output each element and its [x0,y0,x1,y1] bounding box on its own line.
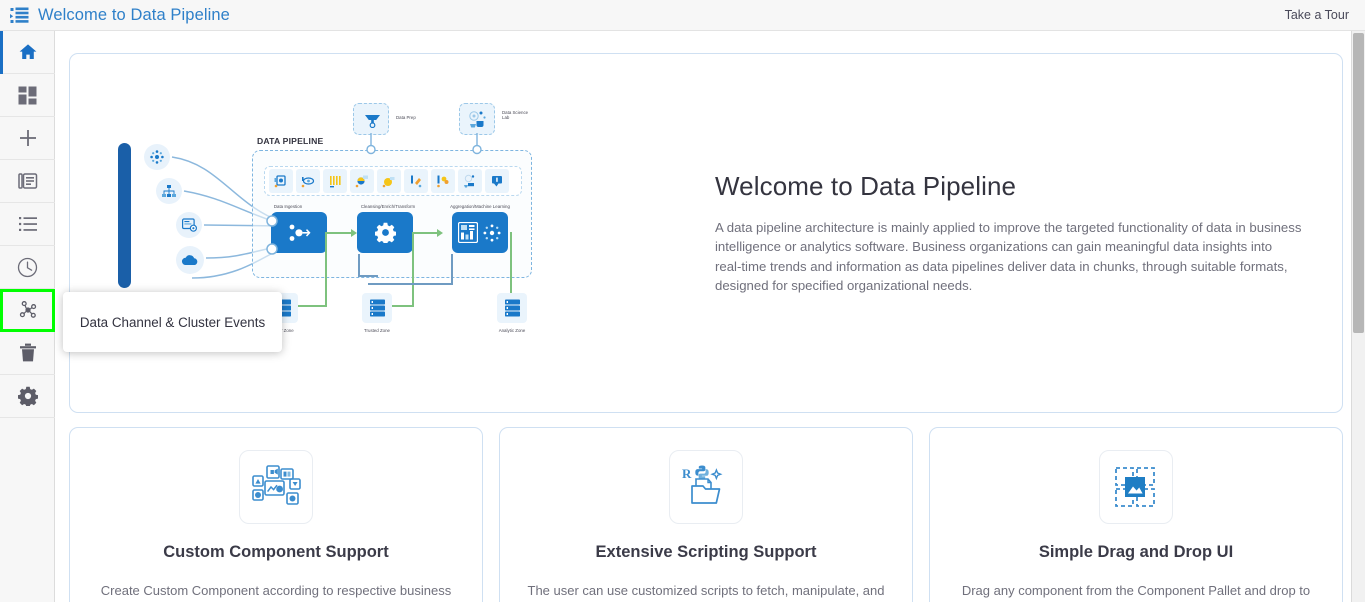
palette-item[interactable] [377,169,401,193]
data-sources-bar [118,143,131,288]
sidebar-item-data-channel[interactable] [0,289,55,332]
stage-label-ingestion: Data Ingestion [253,204,323,209]
hero-title: Welcome to Data Pipeline [715,171,1302,202]
sidebar-item-history[interactable] [0,246,55,289]
left-sidebar [0,31,55,602]
trash-icon [19,343,37,363]
zone-analytic-label: Analytic Zone [487,328,537,333]
sidebar-item-trash[interactable] [0,332,55,375]
palette-item[interactable] [431,169,455,193]
zone-trusted-label: Trusted Zone [352,328,402,333]
scrollbar-thumb[interactable] [1353,33,1364,333]
scripting-folder-icon: R [669,450,743,524]
palette-item[interactable] [458,169,482,193]
zone-trusted [362,293,392,323]
feature-card-drag-drop[interactable]: Simple Drag and Drop UI Drag any compone… [929,427,1343,602]
page-title: Welcome to Data Pipeline [38,6,230,25]
vertical-scrollbar[interactable] [1351,31,1365,602]
card-title: Simple Drag and Drop UI [1039,543,1233,562]
list-panel-icon [10,7,30,24]
palette-item[interactable] [296,169,320,193]
zone-analytic [497,293,527,323]
data-prep-node [353,103,389,135]
share-nodes-icon [18,300,38,320]
header-left-group: Welcome to Data Pipeline [0,6,230,25]
top-header-bar: Welcome to Data Pipeline Take a Tour [0,0,1365,31]
palette-item[interactable] [404,169,428,193]
hero-text-block: Welcome to Data Pipeline A data pipeline… [693,171,1342,296]
gear-icon [18,386,38,406]
svg-text:R: R [682,466,692,481]
feature-card-custom-component[interactable]: Custom Component Support Create Custom C… [69,427,483,602]
book-icon [18,171,38,191]
sidebar-item-documents[interactable] [0,160,55,203]
stage-label-cleansing: Cleansing/Enrich/Transform [338,204,438,209]
palette-item[interactable] [269,169,293,193]
clock-icon [17,257,38,278]
drag-drop-image-icon [1099,450,1173,524]
home-icon [18,42,38,62]
feature-cards-row: Custom Component Support Create Custom C… [69,427,1343,602]
palette-item[interactable] [323,169,347,193]
sidebar-tooltip: Data Channel & Cluster Events [63,292,282,352]
palette-item[interactable] [485,169,509,193]
take-a-tour-button[interactable]: Take a Tour [1285,8,1349,22]
sidebar-item-list[interactable] [0,203,55,246]
card-title: Extensive Scripting Support [596,543,817,562]
data-science-lab-label: Data Science Lab [502,110,536,121]
card-description: Drag any component from the Component Pa… [930,581,1342,602]
diagram-title: DATA PIPELINE [257,136,323,146]
data-science-lab-node [459,103,495,135]
palette-item[interactable] [350,169,374,193]
hero-description: A data pipeline architecture is mainly a… [715,218,1302,296]
card-description: The user can use customized scripts to f… [500,581,912,602]
sidebar-item-settings[interactable] [0,375,55,418]
sidebar-item-dashboard[interactable] [0,74,55,117]
component-palette-strip [264,166,522,196]
list-icon [18,216,38,232]
stage-label-aggregation: Aggregation/Machine Learning [428,204,532,209]
sidebar-item-home[interactable] [0,31,55,74]
card-description: Create Custom Component according to res… [70,581,482,602]
hero-panel: DATA PIPELINE Data Prep [69,53,1343,413]
components-grid-icon [239,450,313,524]
feature-card-scripting[interactable]: R Extensive Scripting Support The user c… [499,427,913,602]
data-prep-label: Data Prep [396,115,416,120]
card-title: Custom Component Support [163,543,388,562]
top-node-stems [348,133,538,155]
plus-icon [18,128,38,148]
sidebar-item-create-new[interactable] [0,117,55,160]
grid-icon [18,86,37,105]
